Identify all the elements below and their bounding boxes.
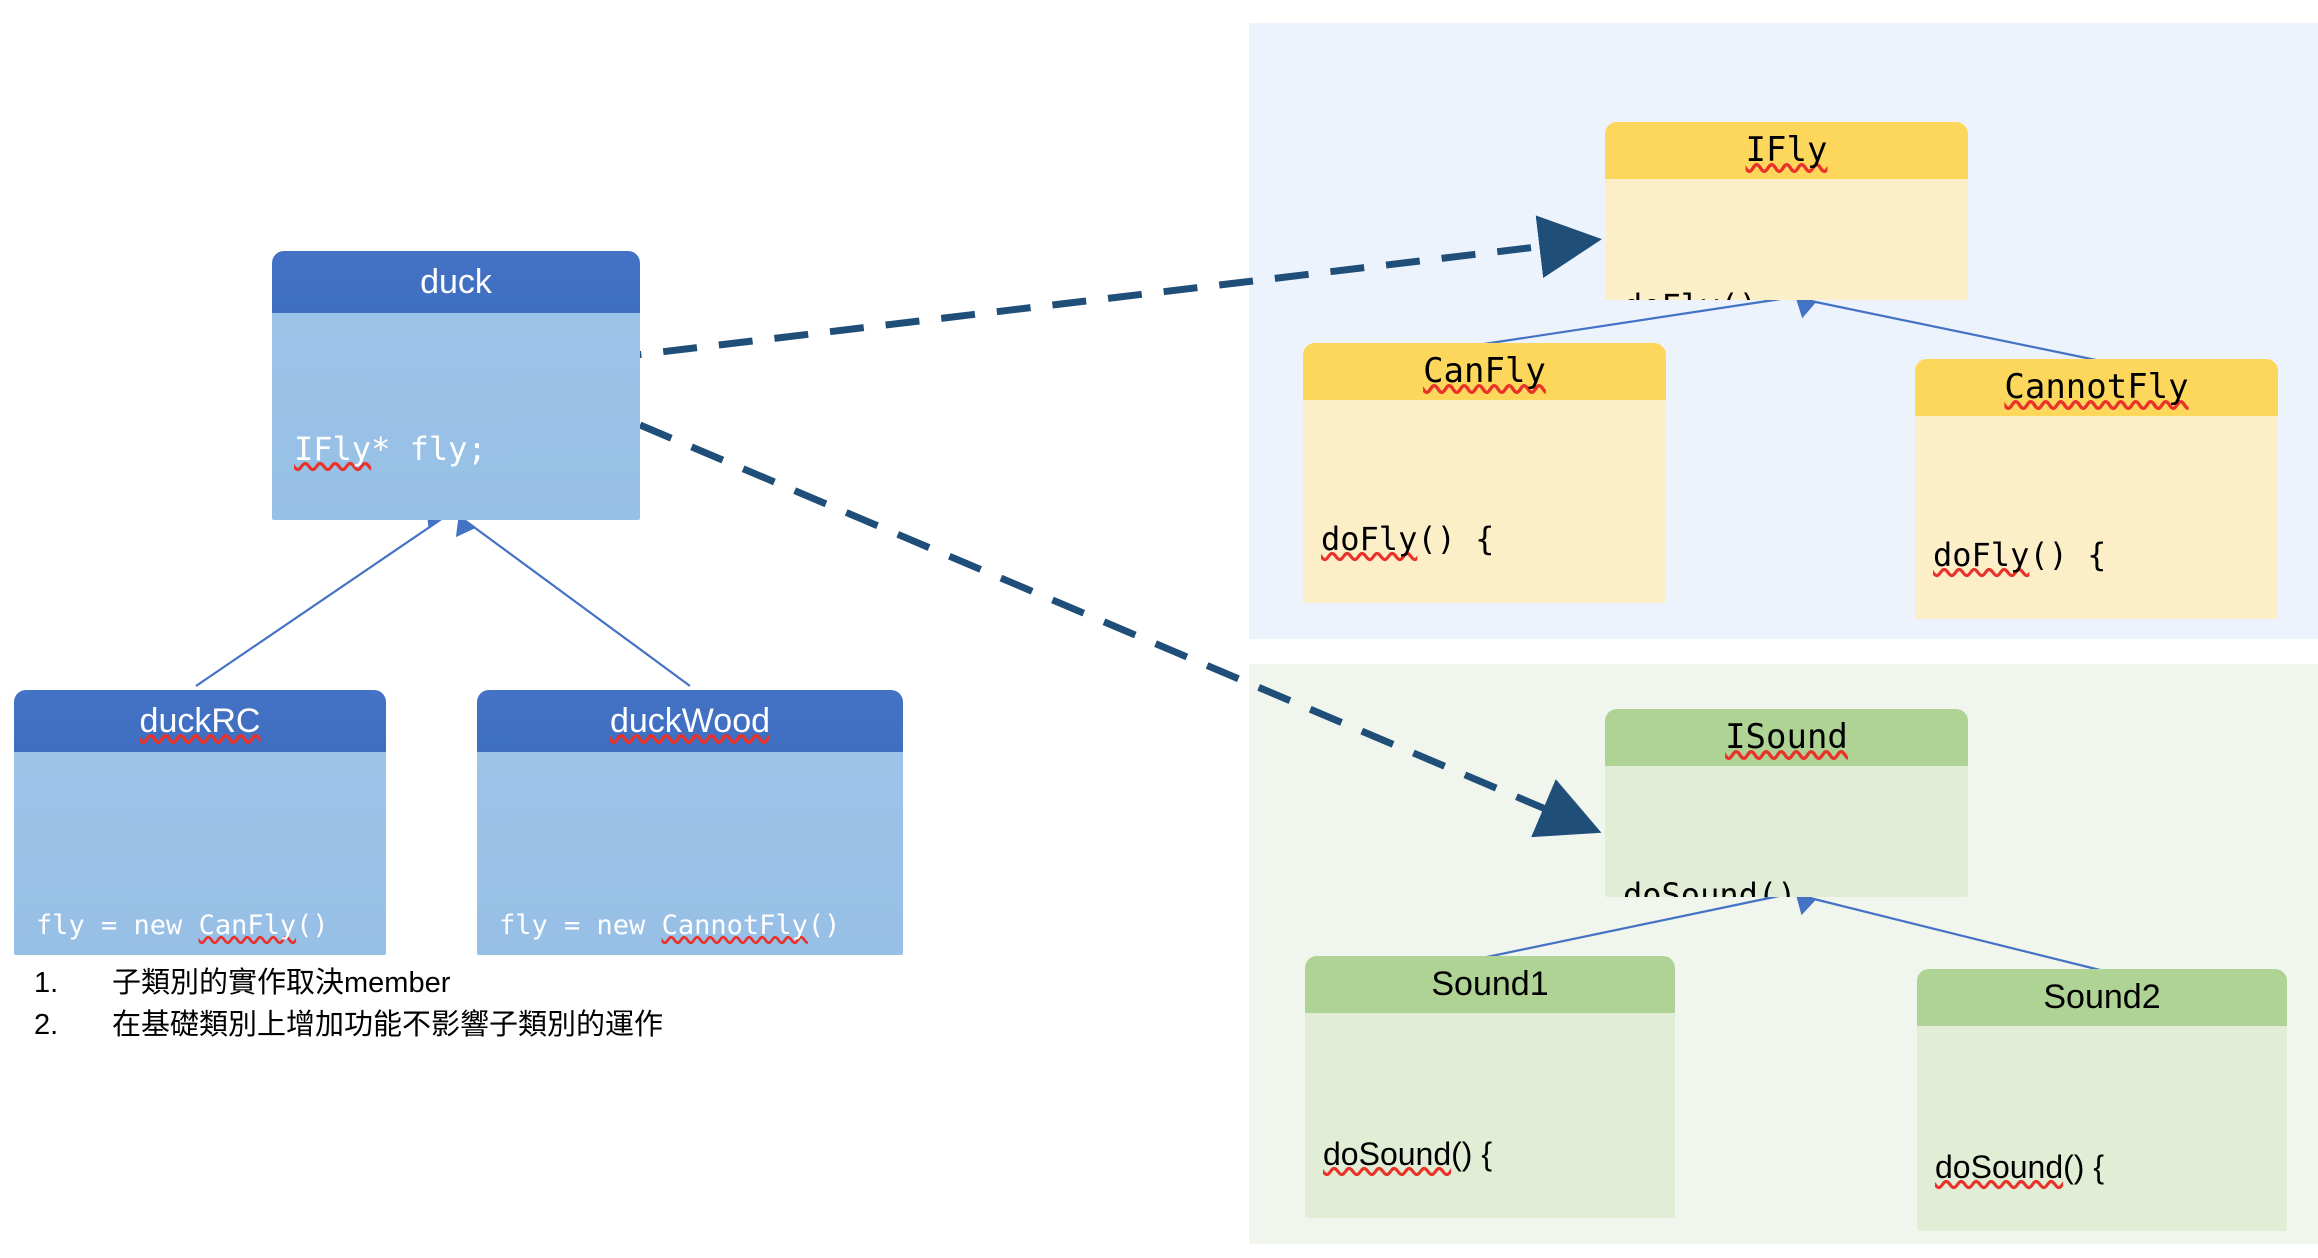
method-line: doFly()	[1623, 283, 1968, 300]
class-box-duckrc[interactable]: duckRC fly = new CanFly()	[14, 690, 386, 955]
class-title-isound: ISound	[1605, 709, 1968, 766]
list-item-number: 2.	[34, 1004, 112, 1046]
member-rest: * fly;	[371, 430, 487, 468]
method-dosound: doSound	[1623, 876, 1758, 897]
list-item-text: 在基礎類別上增加功能不影響子類別的運作	[112, 1004, 894, 1046]
class-box-sound1[interactable]: Sound1 doSound() { “Sound1” }	[1305, 956, 1675, 1218]
member-suffix: ()	[808, 910, 841, 941]
member-line: fly = new CanFly()	[36, 906, 386, 946]
list-item-text: 子類別的實作取決member	[112, 962, 894, 1004]
class-title-cannotfly: CannotFly	[1915, 359, 2278, 416]
class-title-text: CanFly	[1423, 351, 1546, 391]
link-duckrc-to-duck	[196, 522, 437, 686]
class-box-canfly[interactable]: CanFly doFly() { “Can fly” }	[1303, 343, 1666, 603]
class-title-text: CannotFly	[2004, 367, 2188, 407]
class-body-duckrc: fly = new CanFly()	[14, 752, 386, 955]
class-box-duck[interactable]: duck IFly* fly; Isound* sound; …	[272, 251, 640, 520]
method-line: doFly() {	[1321, 516, 1666, 563]
member-prefix: fly = new	[36, 910, 199, 941]
class-box-isound[interactable]: ISound doSound() …	[1605, 709, 1968, 897]
class-body-ifly: doFly() …	[1605, 179, 1968, 300]
class-title-duck: duck	[272, 251, 640, 313]
class-title-text: IFly	[1746, 130, 1828, 170]
method-open: () {	[2063, 1149, 2104, 1185]
class-title-duckrc: duckRC	[14, 690, 386, 752]
member-suffix: ()	[296, 910, 329, 941]
method-line: doSound() {	[1935, 1144, 2287, 1191]
member-line: fly = new CannotFly()	[499, 906, 903, 946]
method-dofly: doFly	[1623, 287, 1719, 300]
class-title-duckwood: duckWood	[477, 690, 903, 752]
diagram-canvas: duck IFly* fly; Isound* sound; … duckRC …	[0, 0, 2318, 1258]
class-box-sound2[interactable]: Sound2 doSound() { “Sound2” }	[1917, 969, 2287, 1231]
method-dosound: doSound	[1323, 1136, 1451, 1172]
class-title-sound2: Sound2	[1917, 969, 2287, 1026]
member-line: IFly* fly;	[294, 425, 640, 473]
class-box-duckwood[interactable]: duckWood fly = new CannotFly()	[477, 690, 903, 955]
class-box-cannotfly[interactable]: CannotFly doFly() { “Cannot fly” }	[1915, 359, 2278, 619]
list-item: 2. 在基礎類別上增加功能不影響子類別的運作	[34, 1004, 894, 1046]
class-body-sound2: doSound() { “Sound2” }	[1917, 1026, 2287, 1231]
class-title-ifly: IFly	[1605, 122, 1968, 179]
method-dofly: doFly	[1321, 520, 1417, 558]
method-line: doSound() {	[1323, 1131, 1675, 1178]
member-prefix: fly = new	[499, 910, 662, 941]
class-body-sound1: doSound() { “Sound1” }	[1305, 1013, 1675, 1218]
class-title-canfly: CanFly	[1303, 343, 1666, 400]
list-item: 1. 子類別的實作取決member	[34, 962, 894, 1004]
method-open: () {	[2029, 536, 2106, 574]
class-body-duckwood: fly = new CannotFly()	[477, 752, 903, 955]
method-open: () {	[1417, 520, 1494, 558]
class-box-ifly[interactable]: IFly doFly() …	[1605, 122, 1968, 300]
class-title-text: duckWood	[610, 702, 770, 740]
method-dosound: doSound	[1935, 1149, 2063, 1185]
member-type-ifly: IFly	[294, 430, 371, 468]
class-title-sound1: Sound1	[1305, 956, 1675, 1013]
member-ctor-canfly: CanFly	[199, 910, 297, 941]
class-body-cannotfly: doFly() { “Cannot fly” }	[1915, 416, 2278, 619]
method-line: doFly() {	[1933, 532, 2278, 579]
class-body-duck: IFly* fly; Isound* sound; …	[272, 313, 640, 520]
class-body-isound: doSound() …	[1605, 766, 1968, 897]
list-item-number: 1.	[34, 962, 112, 1004]
method-parens: ()	[1719, 287, 1758, 300]
notes-list: 1. 子類別的實作取決member 2. 在基礎類別上增加功能不影響子類別的運作	[34, 962, 894, 1046]
method-dofly: doFly	[1933, 536, 2029, 574]
member-ctor-cannotfly: CannotFly	[662, 910, 808, 941]
method-parens: ()	[1758, 876, 1797, 897]
method-open: () {	[1451, 1136, 1492, 1172]
class-title-text: ISound	[1725, 717, 1848, 757]
class-body-canfly: doFly() { “Can fly” }	[1303, 400, 1666, 603]
method-line: doSound()	[1623, 872, 1968, 897]
class-title-text: duckRC	[140, 702, 261, 740]
link-duckwood-to-duck	[467, 522, 690, 686]
